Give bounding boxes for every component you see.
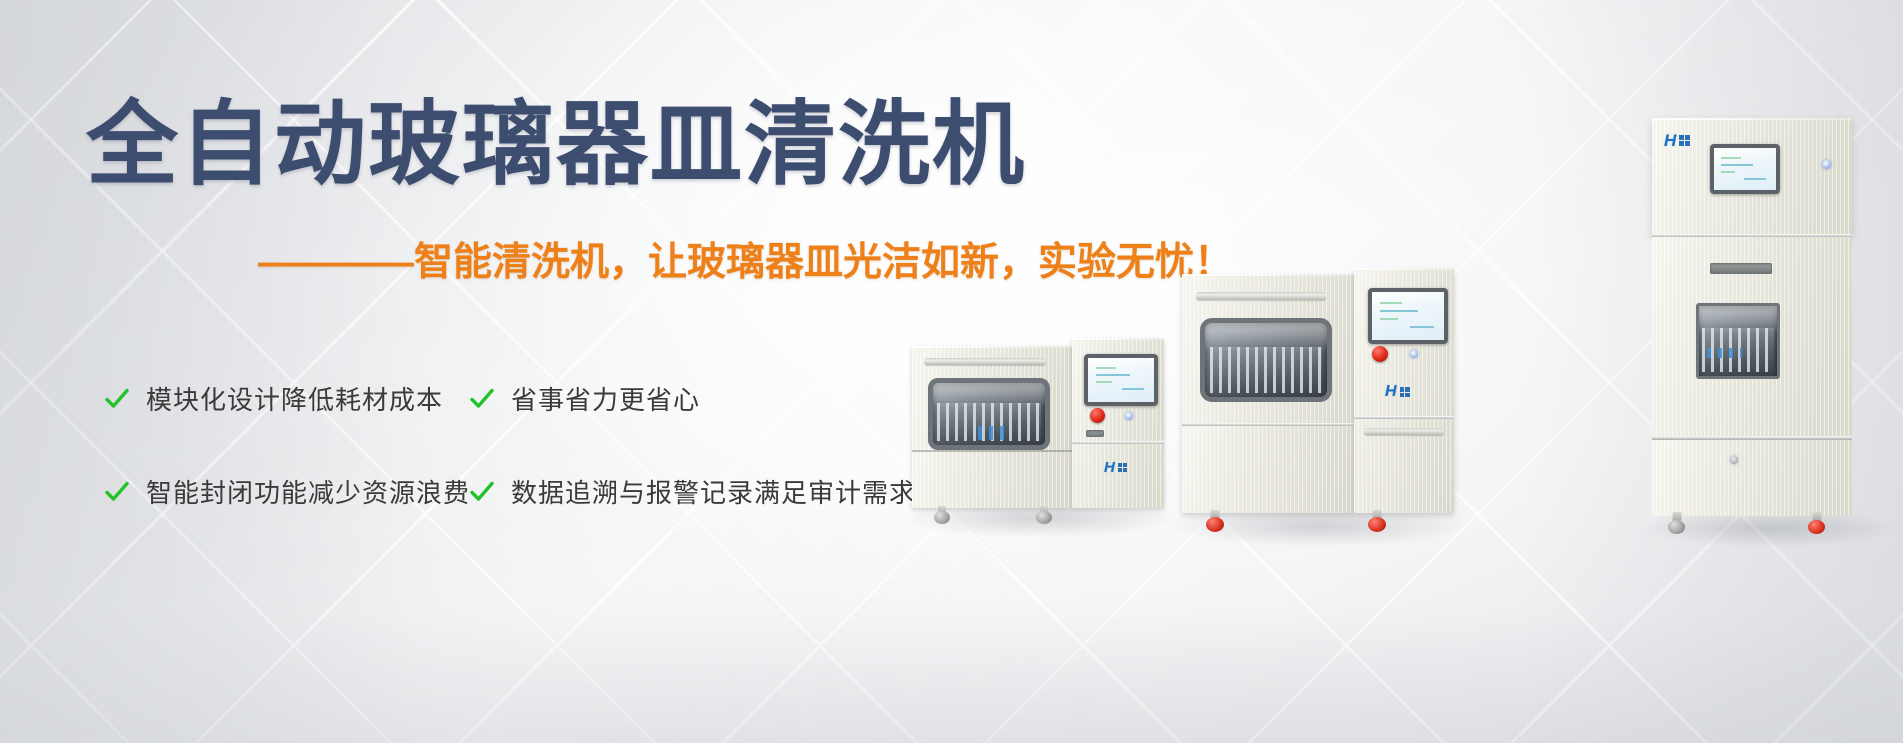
blue-glassware <box>978 426 1007 440</box>
banner-content: 全自动玻璃器皿清洗机 ————智能清洗机，让玻璃器皿光洁如新，实验无忧！ 模块化… <box>0 0 1903 743</box>
brand-logo: H <box>1385 384 1410 400</box>
product-benchtop-glassware-washer: H <box>912 338 1164 508</box>
blue-glassware <box>1707 348 1742 358</box>
lower-drawer <box>1182 426 1354 513</box>
control-column-top-edge <box>1072 338 1164 340</box>
viewing-window <box>928 378 1050 450</box>
cabinet-lock <box>1730 456 1738 464</box>
emergency-stop-button[interactable] <box>1372 346 1388 362</box>
top-edge <box>1652 118 1852 120</box>
indicator-light <box>1410 350 1418 358</box>
caster-wheel <box>1668 512 1685 534</box>
emergency-stop-button[interactable] <box>1090 408 1105 423</box>
body-top-edge <box>912 346 1072 348</box>
window-glare <box>1205 323 1327 351</box>
base-cabinet <box>1652 440 1852 516</box>
window-glare <box>933 383 1045 407</box>
card-slot <box>1086 430 1104 437</box>
brand-logo-squares <box>1400 387 1410 397</box>
caster-wheel <box>1036 506 1052 524</box>
body-top-edge <box>1182 274 1354 276</box>
control-column-seam <box>1354 416 1454 419</box>
touchscreen[interactable] <box>1084 354 1158 406</box>
indicator-light <box>1125 412 1133 420</box>
door-handle <box>1196 292 1326 300</box>
door-handle <box>924 358 1046 365</box>
lower-door-handle <box>1364 428 1444 435</box>
caster-wheel <box>934 506 950 524</box>
touchscreen[interactable] <box>1710 144 1780 194</box>
control-column-seam <box>1072 441 1164 444</box>
air-vent <box>1710 263 1772 274</box>
lower-drawer <box>912 452 1072 508</box>
indicator-light <box>1822 160 1831 169</box>
product-images: H <box>0 0 1903 743</box>
caster-wheel <box>1368 510 1386 532</box>
caster-wheel <box>1808 512 1825 534</box>
brand-logo: H <box>1664 132 1690 149</box>
caster-wheel <box>1206 510 1224 532</box>
brand-logo-squares <box>1679 135 1690 146</box>
product-floor-standing-glassware-washer: H <box>1182 268 1454 513</box>
touchscreen[interactable] <box>1368 288 1448 344</box>
brand-logo-mark: H <box>1104 460 1115 475</box>
brand-logo-mark: H <box>1385 384 1397 400</box>
brand-logo-mark: H <box>1664 132 1676 149</box>
viewing-window <box>1200 318 1332 402</box>
product-tall-column-glassware-washer: H <box>1652 118 1852 516</box>
product-banner: 全自动玻璃器皿清洗机 ————智能清洗机，让玻璃器皿光洁如新，实验无忧！ 模块化… <box>0 0 1903 743</box>
brand-logo-squares <box>1118 463 1127 472</box>
viewing-window <box>1696 303 1780 379</box>
brand-logo: H <box>1104 460 1127 475</box>
glassware-load <box>1210 347 1322 393</box>
window-glare <box>1699 306 1777 333</box>
control-column-top-edge <box>1354 268 1454 270</box>
